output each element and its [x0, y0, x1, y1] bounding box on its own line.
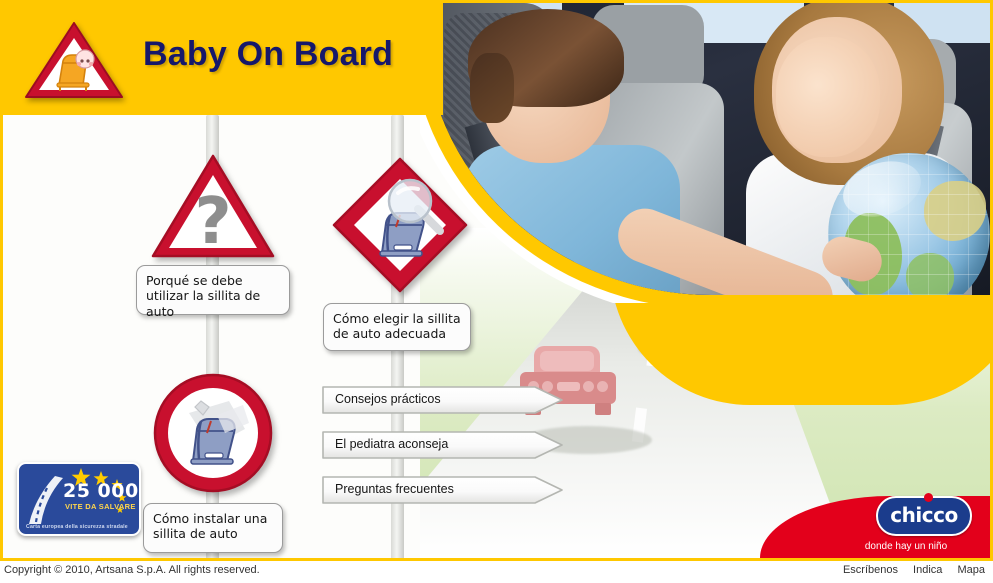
chicco-logo[interactable]: chicco [876, 496, 972, 536]
callout-install-carseat[interactable]: Cómo instalar una sillita de auto [143, 503, 283, 553]
chicco-wordmark: chicco [876, 503, 972, 527]
menu-item-label: Consejos prácticos [335, 392, 441, 406]
eu-badge-caption: Carta europea della sicurezza stradale [26, 524, 128, 530]
callout-choose-carseat[interactable]: Cómo elegir la sillita de auto adecuada [323, 303, 471, 351]
eu-badge-number: 25 000 [63, 480, 139, 502]
sign-choose-carseat[interactable] [330, 155, 470, 295]
page-root: Baby On Board ? Porqué se debe utilizar … [0, 0, 993, 583]
callout-why-use-carseat[interactable]: Porqué se debe utilizar la sillita de au… [136, 265, 290, 315]
baby-on-board-logo-icon [23, 19, 125, 103]
hero-photo-region [420, 3, 990, 303]
eu-road-safety-badge[interactable]: 25 000 VITE DA SALVARE Carta europea del… [17, 462, 141, 536]
sign-install-carseat[interactable] [151, 371, 275, 495]
callout-label: Porqué se debe utilizar la sillita de au… [146, 273, 260, 319]
page-title: Baby On Board [143, 35, 393, 74]
footer-link-indica[interactable]: Indica [913, 564, 942, 576]
main-stage: Baby On Board ? Porqué se debe utilizar … [0, 0, 993, 561]
menu-item-practical-tips[interactable]: Consejos prácticos [321, 385, 564, 415]
footer-link-contact[interactable]: Escríbenos [843, 564, 898, 576]
footer-bar: Copyright © 2010, Artsana S.p.A. All rig… [0, 561, 993, 583]
sign-why-use-carseat[interactable]: ? [149, 151, 277, 263]
callout-label: Cómo instalar una sillita de auto [153, 511, 267, 541]
callout-label: Cómo elegir la sillita de auto adecuada [333, 311, 461, 341]
copyright-text: Copyright © 2010, Artsana S.p.A. All rig… [4, 564, 260, 576]
chicco-tagline: donde hay un niño [836, 541, 976, 552]
footer-link-map[interactable]: Mapa [957, 564, 985, 576]
eu-badge-subtitle: VITE DA SALVARE [65, 502, 136, 511]
menu-item-label: Preguntas frecuentes [335, 482, 454, 496]
chicco-dot-icon [924, 493, 933, 502]
question-mark-icon: ? [194, 185, 231, 259]
footer-links: Escríbenos Indica Mapa [831, 564, 985, 576]
menu-item-faq[interactable]: Preguntas frecuentes [321, 475, 564, 505]
header-bar: Baby On Board [3, 3, 443, 115]
menu-item-pediatrician-advice[interactable]: El pediatra aconseja [321, 430, 564, 460]
menu-item-label: El pediatra aconseja [335, 437, 448, 451]
hero-photo [424, 3, 990, 295]
